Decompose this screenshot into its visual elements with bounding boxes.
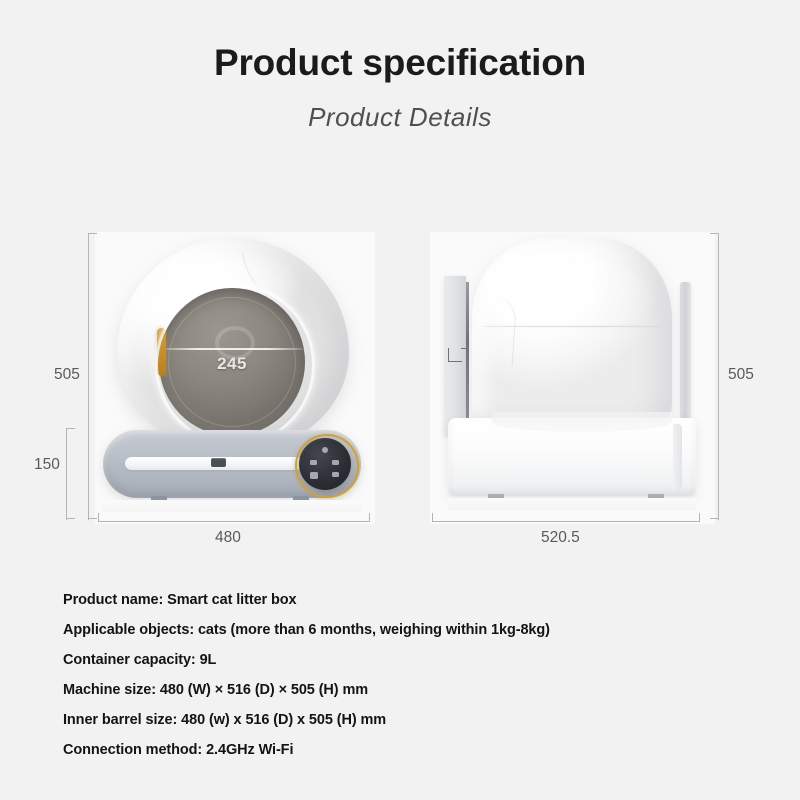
front-view-product-illustration: 245	[95, 232, 375, 532]
front-base	[103, 430, 361, 498]
dim-left-width-tick-right	[369, 513, 370, 522]
dim-left-base-tick-bottom	[66, 518, 75, 519]
dim-left-width-tick-left	[98, 513, 99, 522]
front-ground-shadow	[103, 500, 361, 512]
dim-left-height-tick-bottom	[88, 518, 97, 519]
side-left-panel-edge	[466, 282, 469, 432]
specification-list: Product name: Smart cat litter box Appli…	[63, 592, 683, 772]
side-right-panel	[680, 282, 691, 428]
spec-line: Product name: Smart cat litter box	[63, 592, 683, 608]
dim-right-height-tick-bottom	[710, 518, 719, 519]
dim-right-width-tick-left	[432, 513, 433, 522]
side-bracket-mark-icon-2	[461, 348, 467, 355]
dim-right-height-line	[718, 233, 719, 520]
page-subtitle: Product Details	[0, 102, 800, 133]
spec-line: Inner barrel size: 480 (w) x 516 (D) x 5…	[63, 712, 683, 728]
product-specification-page: Product specification Product Details 24…	[0, 0, 800, 800]
spec-line: Machine size: 480 (W) × 516 (D) × 505 (H…	[63, 682, 683, 698]
dim-left-base-line	[66, 428, 67, 520]
spec-line: Connection method: 2.4GHz Wi-Fi	[63, 742, 683, 758]
dim-right-width-tick-right	[699, 513, 700, 522]
dim-left-width-label: 480	[215, 529, 241, 547]
dim-left-height-line	[88, 233, 89, 520]
side-base-cutout	[492, 412, 672, 432]
front-control-panel-gold-ring	[295, 434, 359, 498]
dim-left-width-line	[98, 521, 370, 522]
front-drawer-handle	[211, 458, 226, 467]
spec-line: Container capacity: 9L	[63, 652, 683, 668]
dim-right-width-line	[432, 521, 700, 522]
dim-left-height-tick-top	[88, 233, 97, 234]
dim-right-height-label: 505	[728, 366, 754, 384]
dim-right-width-label: 520.5	[541, 529, 580, 547]
dim-left-base-label: 150	[34, 456, 60, 474]
page-title: Product specification	[0, 42, 800, 84]
side-bracket-mark-icon	[448, 348, 462, 362]
front-opening-rim	[155, 284, 315, 446]
side-body-seam	[482, 326, 662, 327]
dim-left-base-tick-top	[66, 428, 75, 429]
side-base-drawer	[448, 418, 696, 496]
dim-left-height-label: 505	[54, 366, 80, 384]
spec-line: Applicable objects: cats (more than 6 mo…	[63, 622, 683, 638]
side-base-right-edge	[673, 424, 682, 490]
side-view-product-illustration	[430, 232, 715, 532]
dim-right-height-tick-top	[710, 233, 719, 234]
side-ground-shadow	[448, 498, 696, 510]
